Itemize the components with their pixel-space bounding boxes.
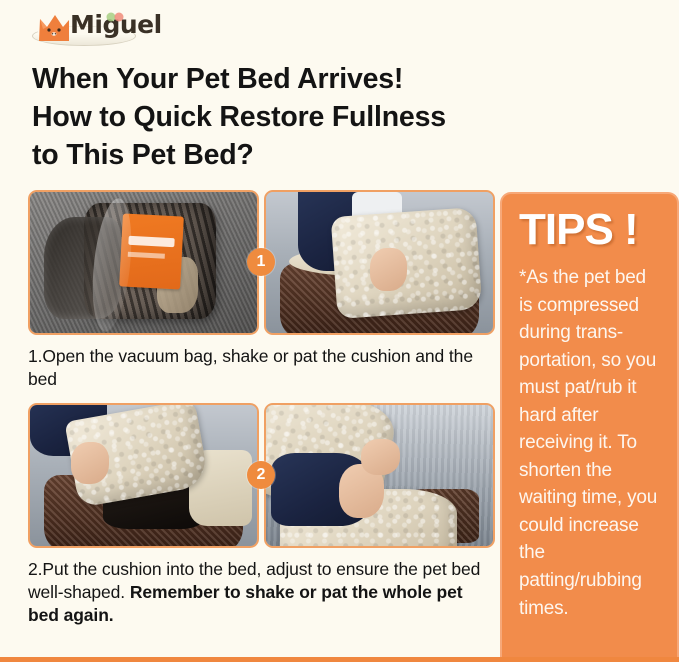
logo-accent-dots — [106, 11, 124, 25]
headline-line-3: to This Pet Bed? — [32, 136, 612, 174]
hand — [370, 248, 406, 290]
step-badge-2: 2 — [247, 461, 275, 489]
hand — [71, 442, 110, 484]
step-1-photo-row: 1 — [28, 190, 495, 335]
photo-holding-cushion — [264, 190, 495, 335]
cat-head-icon — [34, 7, 74, 47]
step-2-photo-row: 2 — [28, 403, 495, 548]
tips-panel: TIPS ! *As the pet bed is compressed dur… — [500, 192, 679, 657]
photo-vacuum-bag — [28, 190, 259, 335]
step-1-caption: 1.Open the vacuum bag, shake or pat the … — [28, 345, 495, 391]
infographic-page: Miguel When Your Pet Bed Arrives! How to… — [0, 0, 679, 662]
hand-right — [361, 439, 400, 476]
tips-body: *As the pet bed is compressed during tra… — [519, 264, 663, 622]
step-2-caption: 2.Put the cushion into the bed, adjust t… — [28, 558, 495, 627]
photo-patting-cushion — [264, 403, 495, 548]
cream-cushion — [331, 207, 483, 318]
brand-logo: Miguel — [30, 4, 140, 50]
headline-line-1: When Your Pet Bed Arrives! — [32, 60, 612, 98]
photo-placing-cushion — [28, 403, 259, 548]
step-1-caption-text: 1.Open the vacuum bag, shake or pat the … — [28, 346, 473, 389]
cushion-texture — [331, 207, 483, 318]
tips-title: TIPS ! — [519, 208, 663, 252]
step-badge-1: 1 — [247, 248, 275, 276]
headline-line-2: How to Quick Restore Fullness — [32, 98, 612, 136]
steps-column: 1 1.Open the vacuum bag, shake or pat th… — [28, 190, 495, 639]
page-title: When Your Pet Bed Arrives! How to Quick … — [32, 60, 612, 175]
